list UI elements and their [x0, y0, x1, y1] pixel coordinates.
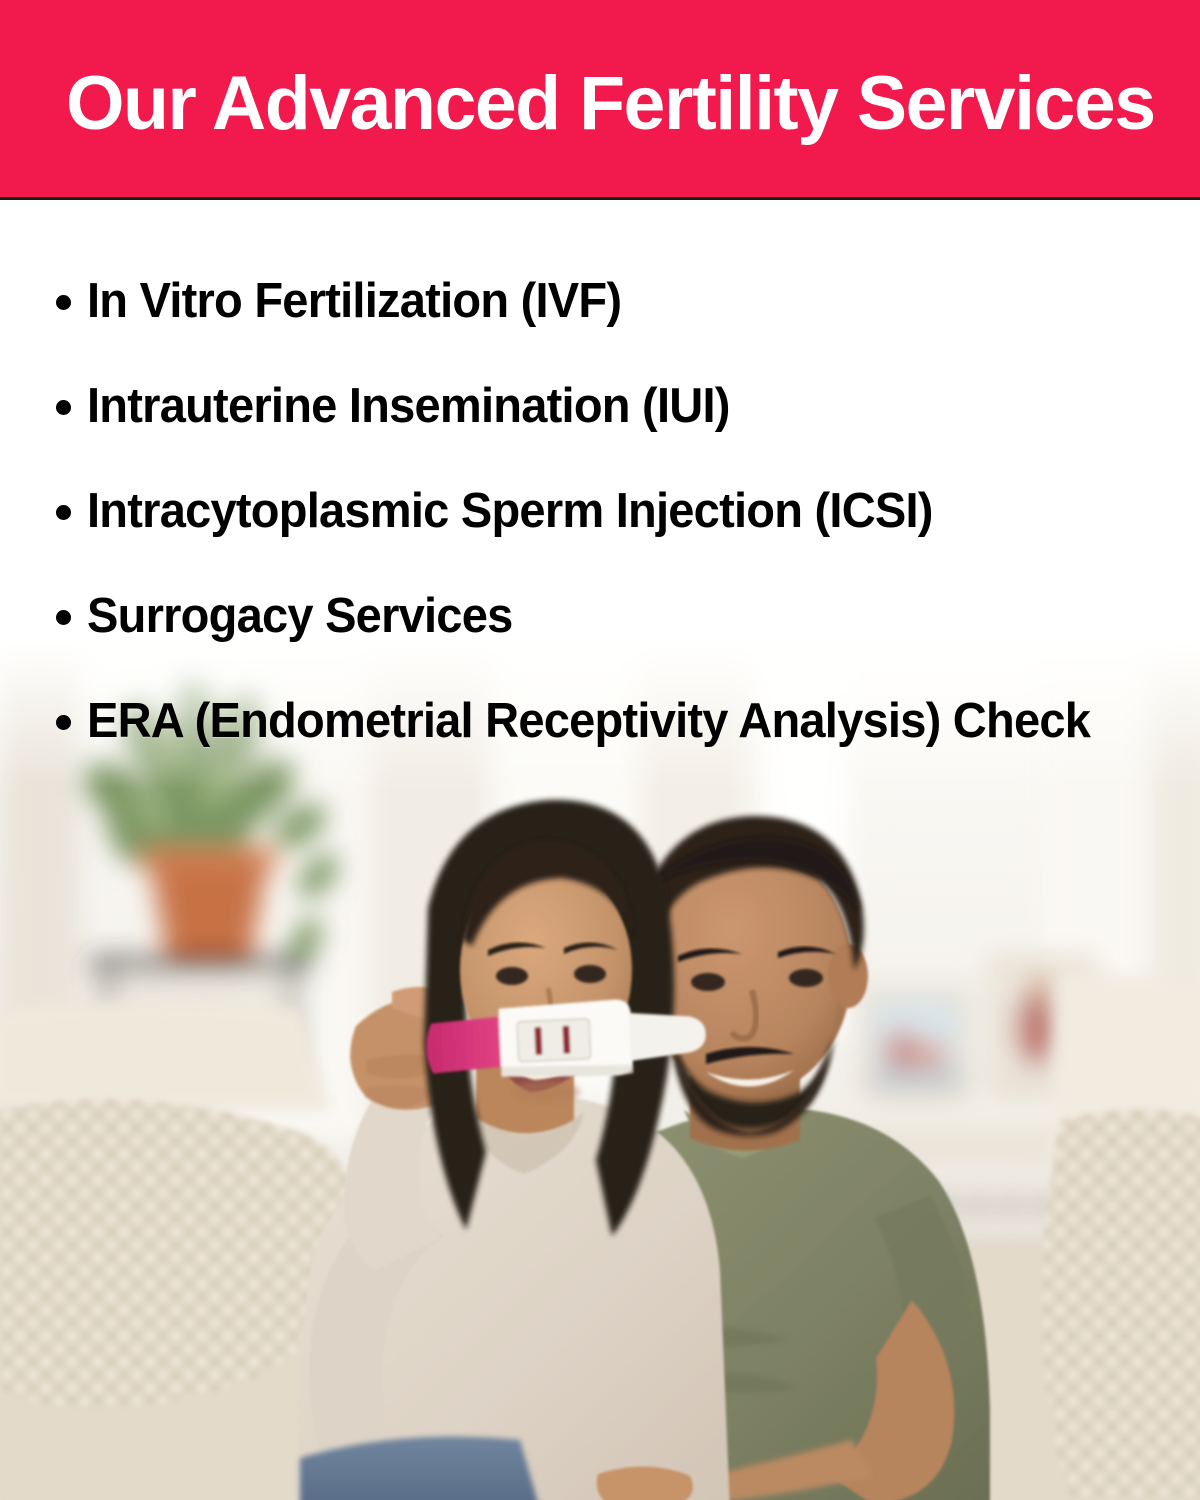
service-label: Intrauterine Insemination (IUI) [87, 378, 730, 434]
list-item: In Vitro Fertilization (IVF) [0, 248, 1200, 353]
service-label: ERA (Endometrial Receptivity Analysis) C… [87, 693, 1090, 749]
page-title: Our Advanced Fertility Services [66, 60, 1155, 148]
bullet-dot-icon [56, 715, 71, 730]
bullet-dot-icon [56, 505, 71, 520]
list-item: Intrauterine Insemination (IUI) [0, 353, 1200, 458]
list-item: Intracytoplasmic Sperm Injection (ICSI) [0, 458, 1200, 563]
bullet-dot-icon [56, 400, 71, 415]
list-item: Surrogacy Services [0, 563, 1200, 668]
bullet-dot-icon [56, 610, 71, 625]
service-label: Intracytoplasmic Sperm Injection (ICSI) [87, 483, 933, 539]
fertility-services-poster: Our Advanced Fertility Services In Vitro… [0, 0, 1200, 1500]
service-label: In Vitro Fertilization (IVF) [87, 273, 621, 329]
list-item: ERA (Endometrial Receptivity Analysis) C… [0, 668, 1200, 773]
service-label: Surrogacy Services [87, 588, 512, 644]
services-list: In Vitro Fertilization (IVF) Intrauterin… [0, 248, 1200, 773]
bullet-dot-icon [56, 295, 71, 310]
header-band: Our Advanced Fertility Services [0, 0, 1200, 200]
